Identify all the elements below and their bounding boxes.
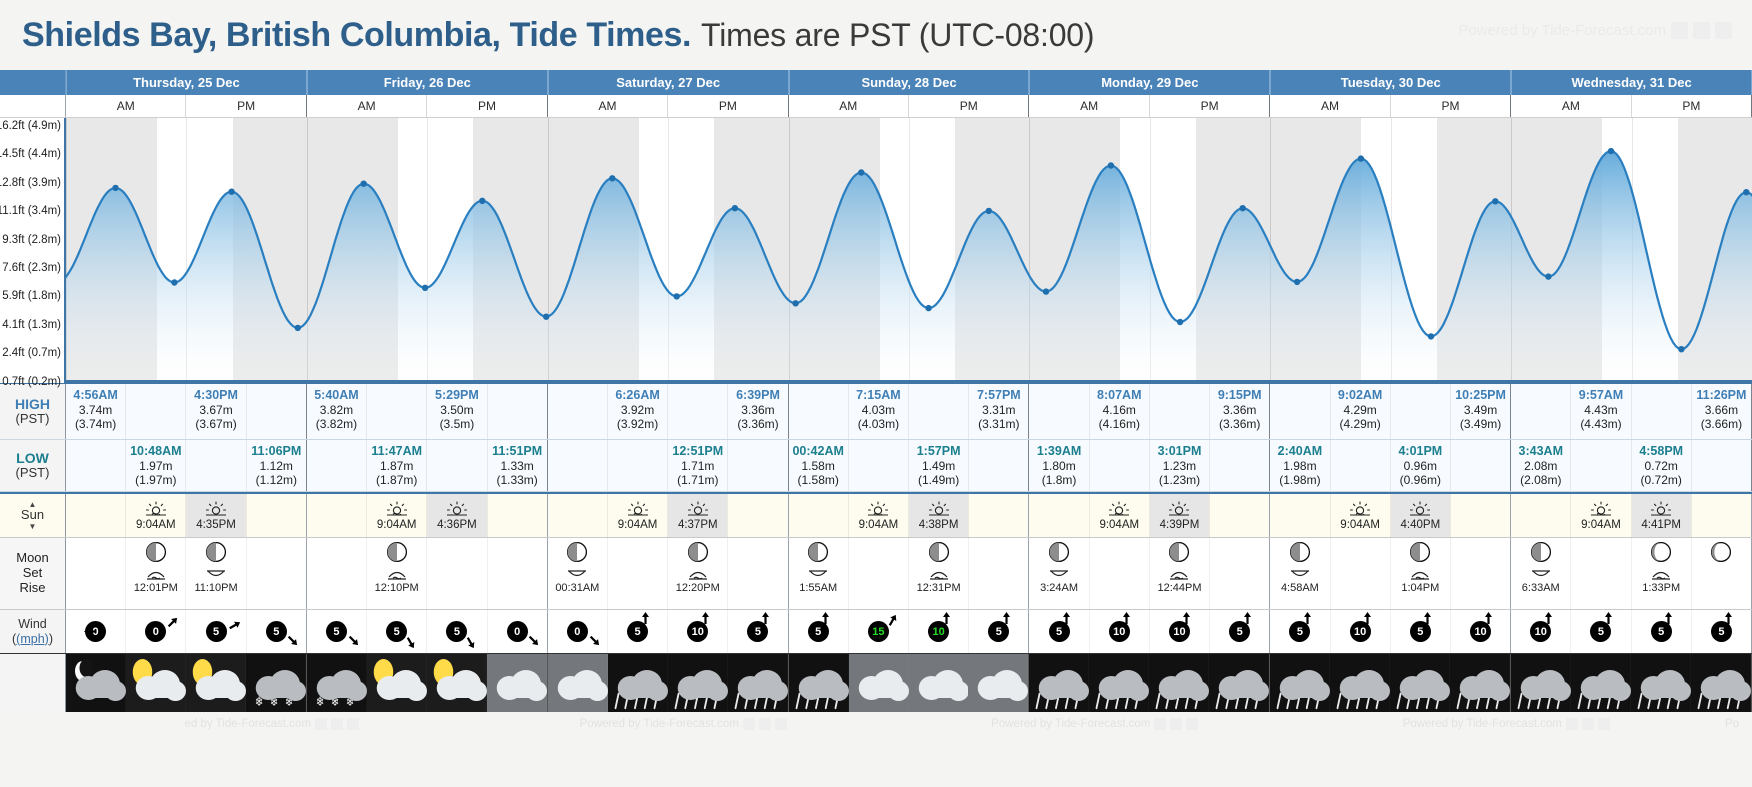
sun-cell-1-1: 9:04AM [367,494,427,537]
moonrise-icon [807,568,829,581]
weather-cell-0-2 [186,654,246,712]
high-tide-height-alt: (3.92m) [608,417,667,431]
wind-direction-arrow-icon [1420,611,1435,629]
wind-direction-arrow-icon [587,633,602,651]
low-tide-cell-5-2: 4:01PM0.96m(0.96m) [1391,440,1451,491]
low-tide-cell-5-1 [1331,440,1391,491]
moon-phase-icon [567,542,587,562]
high-tide-row: HIGH (PST) 4:56AM3.74m(3.74m)4:30PM3.67m… [0,383,1752,440]
sunrise-icon [386,501,408,517]
wind-cell-3-2: 10 [909,610,969,653]
moon-cell-4-3 [1210,538,1269,609]
low-tide-time: 11:47AM [367,444,426,459]
moon-phase-last-quarter-icon [387,542,407,562]
low-tide-cell-0-1: 10:48AM1.97m(1.97m) [126,440,186,491]
tide-extreme-point-5 [422,285,428,291]
moon-phase-last-quarter-icon [929,542,949,562]
weather-cell-5-0 [1270,654,1330,712]
footer-watermark-text: Po [1725,718,1739,730]
moon-cell-6-2: 1:33PM [1632,538,1692,609]
chart-plot-area [66,118,1752,383]
footer-watermark-2: Powered by Tide-Forecast.com [889,718,1301,730]
rain-night-icon [1390,654,1450,712]
wind-direction-arrow-icon [285,633,300,651]
weather-cell-2-1 [608,654,668,712]
wind-direction-arrow-icon [403,635,418,653]
moon-cell-4-2: 12:44PM [1150,538,1210,609]
day-header-row: Thursday, 25 DecFriday, 26 DecSaturday, … [0,70,1752,95]
high-tide-height-alt: (3.36m) [728,417,787,431]
wind-direction-arrow-icon [1541,611,1556,629]
sun-day-6: 9:04AM4:41PM [1511,494,1752,537]
moonrise-icon [1289,568,1311,581]
moon-cell-0-3 [247,538,306,609]
tide-extreme-point-25 [1678,346,1684,352]
page-subtitle: Times are PST (UTC-08:00) [701,17,1094,54]
sun-cell-6-0 [1511,494,1571,537]
rain-night-icon [1029,654,1089,712]
moon-phase-icon [146,542,166,562]
wind-row-label: Wind ((mph)) [0,610,66,653]
weather-day-4 [1029,654,1270,712]
chart-y-axis: 16.2ft (4.9m)14.5ft (4.4m)12.8ft (3.9m)1… [0,118,66,383]
high-tide-day-1: 5:40AM3.82m(3.82m)5:29PM3.50m(3.5m) [307,384,548,439]
high-tide-height-alt: (3.5m) [427,417,486,431]
wind-cell-4-1: 10 [1090,610,1150,653]
rain-night-icon [1691,654,1751,712]
wind-direction-arrow-icon [1300,611,1315,629]
day-header-1: Friday, 26 Dec [307,70,548,95]
partly-cloudy-day-icon [126,654,186,712]
moonrise-icon [1289,568,1311,582]
day-header-0: Thursday, 25 Dec [66,70,307,95]
moonrise-icon [566,568,588,581]
moonset-icon [1409,568,1431,582]
sun-time: 9:04AM [1099,519,1139,531]
weather-icon-row: ❄❄❄❄❄❄ [0,654,1752,712]
high-tide-height: 4.16m [1090,403,1149,417]
moon-phase-last-quarter-icon [206,542,226,562]
low-tide-cell-3-0: 00:42AM1.58m(1.58m) [789,440,849,491]
high-tide-cell-1-1 [367,384,427,439]
high-tide-label: HIGH (PST) [0,384,66,439]
sun-cell-6-3 [1692,494,1751,537]
moon-phase-icon [1531,542,1551,562]
high-tide-height: 3.50m [427,403,486,417]
wind-cell-1-1: 5 [367,610,427,653]
low-tide-cell-2-0 [548,440,608,491]
moon-time: 12:44PM [1157,582,1201,594]
ampm-cell-6-1: PM [1632,95,1751,117]
low-tide-cell-3-1 [849,440,909,491]
refresh-badge-icon [759,718,771,730]
ampm-day-3: AMPM [789,95,1030,117]
sun-cell-0-0 [66,494,126,537]
high-tide-height-alt: (3.82m) [307,417,366,431]
wave-badge-icon [1154,718,1166,730]
ampm-day-2: AMPM [548,95,789,117]
partly-cloudy-night-icon [66,654,126,712]
wind-direction-arrow-icon [346,633,361,651]
tide-extreme-point-17 [1177,319,1183,325]
sun-cell-2-2: 4:37PM [668,494,728,537]
low-tide-time: 3:01PM [1150,444,1209,459]
tide-extreme-point-22 [1492,198,1498,204]
weather-cell-4-2 [1149,654,1209,712]
moonset-icon [386,568,408,582]
low-tide-height: 0.72m [1632,459,1691,473]
low-tide-height-alt: (1.58m) [789,473,848,487]
high-tide-cell-0-1 [126,384,186,439]
wind-direction-arrow-icon [885,613,900,631]
cloudy-icon [487,654,547,712]
moon-cell-0-2: 11:10PM [186,538,246,609]
low-tide-time: 1:57PM [909,444,968,459]
sun-day-1: 9:04AM4:36PM [307,494,548,537]
y-axis-tick-9: 0.7ft (0.2m) [2,376,61,388]
sun-cell-1-0 [307,494,367,537]
weather-day-0: ❄❄❄ [66,654,307,712]
rain-night-icon [1571,654,1631,712]
y-axis-tick-3: 11.1ft (3.4m) [0,205,61,217]
wind-day-6: 10555 [1511,610,1752,653]
moon-cell-2-0: 00:31AM [548,538,608,609]
high-tide-height: 3.36m [728,403,787,417]
triangle-badge-icon [1598,718,1610,730]
wind-direction-arrow-icon [638,611,653,629]
footer-watermark-0: ed by Tide-Forecast.com [66,718,478,730]
moonrise-icon [1048,568,1070,581]
page-header: Shields Bay, British Columbia, Tide Time… [0,0,1752,70]
wind-speed-badge: 5 [326,621,347,642]
wind-speed-badge: 0 [567,621,588,642]
moon-cell-2-3 [728,538,787,609]
weather-day-5 [1270,654,1511,712]
high-tide-day-0: 4:56AM3.74m(3.74m)4:30PM3.67m(3.67m) [66,384,307,439]
sunrise-icon [145,501,167,517]
wind-cell-6-1: 5 [1571,610,1631,653]
low-tide-time: 11:51PM [488,444,547,459]
ampm-day-6: AMPM [1511,95,1752,117]
sunset-icon [446,501,468,517]
wind-cell-3-1: 15 [849,610,909,653]
high-tide-cell-5-2 [1391,384,1451,439]
snow-night-icon: ❄❄❄ [246,654,306,712]
sun-row-label-text: Sun [21,508,44,523]
wind-cell-2-2: 10 [668,610,728,653]
wind-speed-badge: 5 [446,621,467,642]
tide-extreme-point-4 [361,181,367,187]
low-tide-day-2: 12:51PM1.71m(1.71m) [548,440,789,491]
low-tide-day-4: 1:39AM1.80m(1.8m)3:01PM1.23m(1.23m) [1029,440,1270,491]
weather-cell-2-3 [728,654,788,712]
wind-day-5: 510510 [1270,610,1511,653]
low-tide-height-alt: (1.97m) [126,473,185,487]
sun-day-0: 9:04AM4:35PM [66,494,307,537]
high-tide-cell-5-0 [1270,384,1330,439]
tide-extreme-point-1 [171,279,177,285]
wave-badge-icon [1566,718,1578,730]
moon-phase-waning-crescent-icon [1651,542,1671,562]
moon-time: 1:33PM [1642,582,1680,594]
weather-cell-0-1 [126,654,186,712]
sun-cell-2-3 [728,494,787,537]
moon-cell-4-0: 3:24AM [1029,538,1089,609]
weather-cell-4-0 [1029,654,1089,712]
moon-phase-last-quarter-icon [808,542,828,562]
moon-day-1: 12:10PM [307,538,548,609]
sun-time: 9:04AM [859,519,899,531]
moon-phase-icon [206,542,226,562]
day-header-5: Tuesday, 30 Dec [1270,70,1511,95]
moon-time: 00:31AM [555,582,599,594]
low-tide-label: LOW (PST) [0,440,66,491]
weather-day-3 [789,654,1030,712]
sun-time: 4:39PM [1160,519,1200,531]
wind-cell-5-3: 10 [1451,610,1510,653]
ampm-cell-2-0: AM [548,95,668,117]
powered-by-text: Powered by Tide-Forecast.com [1458,22,1666,39]
sunset-icon [687,501,709,517]
sun-time: 4:38PM [919,519,959,531]
moon-phase-icon [808,542,828,562]
weather-cell-4-3 [1209,654,1269,712]
tide-extreme-point-15 [1043,288,1049,294]
moon-time: 1:04PM [1401,582,1439,594]
moon-row-label-text: Moon [16,551,49,566]
low-tide-time: 10:48AM [126,444,185,459]
high-tide-cell-0-2: 4:30PM3.67m(3.67m) [186,384,246,439]
high-tide-cell-1-0: 5:40AM3.82m(3.82m) [307,384,367,439]
wind-day-1: 5550 [307,610,548,653]
wind-cell-2-0: 0 [548,610,608,653]
high-tide-cell-6-2 [1632,384,1692,439]
moon-time: 3:24AM [1040,582,1078,594]
wind-speed-badge: 5 [988,621,1009,642]
partly-cloudy-day-icon [186,654,246,712]
wave-badge-icon [1671,22,1688,39]
tide-extreme-point-23 [1545,273,1551,279]
weather-day-1: ❄❄❄ [307,654,548,712]
low-tide-cell-0-0 [66,440,126,491]
day-header-4: Monday, 29 Dec [1029,70,1270,95]
moon-cell-4-1 [1090,538,1150,609]
high-tide-cell-6-0 [1511,384,1571,439]
wind-cell-4-2: 10 [1150,610,1210,653]
wind-row: Wind ((mph)) 005555500510551510551010551… [0,610,1752,654]
weather-cell-5-3 [1450,654,1510,712]
low-tide-label-text: LOW [16,450,49,466]
wind-direction-arrow-icon [1661,611,1676,629]
tide-extreme-point-18 [1240,205,1246,211]
wind-direction-arrow-icon [818,611,833,629]
wind-unit-text[interactable]: (mph) [16,632,49,646]
wind-cell-0-0: 0 [66,610,126,653]
tide-chart-page: Shields Bay, British Columbia, Tide Time… [0,0,1752,787]
moon-time: 12:31PM [917,582,961,594]
high-tide-cell-3-2 [909,384,969,439]
low-tide-cell-0-2 [186,440,246,491]
low-tide-height-alt: (1.8m) [1029,473,1088,487]
high-tide-height: 3.66m [1692,403,1751,417]
moon-time: 12:10PM [375,582,419,594]
footer-watermark-4: Po [1712,718,1752,730]
high-tide-time: 4:56AM [66,388,125,403]
rain-night-icon [668,654,728,712]
tide-extreme-point-26 [1743,189,1749,195]
high-tide-cell-6-1: 9:57AM4.43m(4.43m) [1571,384,1631,439]
high-tide-label-text: HIGH [15,396,50,412]
wave-badge-icon [743,718,755,730]
wind-speed-badge: 10 [687,621,708,642]
wind-speed-badge: 5 [747,621,768,642]
moon-phase-icon [387,542,407,562]
wind-speed-badge: 5 [627,621,648,642]
tide-area-fill [66,151,1752,383]
moon-cell-5-3 [1451,538,1510,609]
low-tide-time: 4:58PM [1632,444,1691,459]
sun-cell-2-0 [548,494,608,537]
wind-speed-badge: 5 [808,621,829,642]
sun-cell-6-1: 9:04AM [1571,494,1631,537]
tide-extreme-point-20 [1358,155,1364,161]
sun-cell-3-3 [969,494,1028,537]
sunset-icon [205,501,227,517]
moon-cell-1-0 [307,538,367,609]
wind-unit-link[interactable]: ((mph)) [12,632,53,646]
high-tide-cell-3-1: 7:15AM4.03m(4.03m) [849,384,909,439]
low-tide-cell-4-0: 1:39AM1.80m(1.8m) [1029,440,1089,491]
tide-extreme-point-24 [1608,148,1614,154]
low-tide-cell-3-3 [969,440,1028,491]
low-tide-height: 1.71m [668,459,727,473]
weather-cell-5-2 [1390,654,1450,712]
low-tide-cell-5-3 [1451,440,1510,491]
high-tide-height: 3.49m [1451,403,1510,417]
wind-speed-badge: 0 [145,621,166,642]
sun-row-label: ▲ Sun ▼ [0,494,66,537]
wind-speed-badge: 5 [1651,621,1672,642]
moon-phase-waning-crescent-icon [1711,542,1731,562]
sunrise-icon [627,501,649,517]
moon-time: 4:58AM [1281,582,1319,594]
rain-night-icon [1450,654,1510,712]
low-tide-cell-1-1: 11:47AM1.87m(1.87m) [367,440,427,491]
low-tide-day-5: 2:40AM1.98m(1.98m)4:01PM0.96m(0.96m) [1270,440,1511,491]
moonset-icon [1650,568,1672,581]
wind-cell-1-3: 0 [488,610,547,653]
tide-extreme-point-16 [1108,162,1114,168]
day-header-2: Saturday, 27 Dec [548,70,789,95]
high-tide-height: 4.03m [849,403,908,417]
ampm-cell-1-0: AM [307,95,427,117]
moon-cell-3-2: 12:31PM [909,538,969,609]
ampm-cell-4-1: PM [1150,95,1269,117]
high-tide-height-alt: (3.66m) [1692,417,1751,431]
high-tide-height-alt: (4.29m) [1331,417,1390,431]
refresh-badge-icon [1582,718,1594,730]
weather-cell-6-0 [1511,654,1571,712]
low-tide-height: 1.58m [789,459,848,473]
sun-cell-1-3 [488,494,547,537]
low-tide-cell-4-1 [1090,440,1150,491]
high-tide-height: 4.29m [1331,403,1390,417]
footer-watermark-text: Powered by Tide-Forecast.com [580,718,739,730]
tide-extreme-point-13 [925,305,931,311]
high-tide-cell-4-0 [1029,384,1089,439]
high-tide-cell-2-0 [548,384,608,439]
sun-time: 4:35PM [196,519,236,531]
low-tide-cell-6-2: 4:58PM0.72m(0.72m) [1632,440,1692,491]
cloudy-icon [968,654,1028,712]
wind-cell-6-2: 5 [1632,610,1692,653]
high-tide-day-4: 8:07AM4.16m(4.16m)9:15PM3.36m(3.36m) [1029,384,1270,439]
wind-speed-badge: 5 [386,621,407,642]
weather-cell-6-1 [1571,654,1631,712]
sunset-icon [1409,501,1431,519]
low-tide-time: 00:42AM [789,444,848,459]
high-tide-day-2: 6:26AM3.92m(3.92m)6:39PM3.36m(3.36m) [548,384,789,439]
wind-speed-badge: 5 [266,621,287,642]
wind-direction-arrow-icon [526,633,541,651]
sun-day-2: 9:04AM4:37PM [548,494,789,537]
high-tide-label-tz: (PST) [16,412,50,427]
low-tide-height-alt: (2.08m) [1511,473,1570,487]
low-tide-height-alt: (1.12m) [247,473,306,487]
moonset-icon [928,568,950,581]
high-tide-height: 3.92m [608,403,667,417]
high-tide-time: 11:26PM [1692,388,1751,403]
high-tide-cell-4-3: 9:15PM3.36m(3.36m) [1210,384,1269,439]
low-tide-height-alt: (1.71m) [668,473,727,487]
rain-night-icon [1149,654,1209,712]
low-tide-time: 1:39AM [1029,444,1088,459]
wind-direction-arrow-icon [758,611,773,629]
sun-cell-0-1: 9:04AM [126,494,186,537]
sun-time: 4:40PM [1401,519,1441,531]
sun-time: 9:04AM [618,519,658,531]
tide-extreme-point-10 [732,205,738,211]
moon-day-6: 6:33AM1:33PM [1511,538,1752,609]
ampm-day-0: AMPM [66,95,307,117]
moon-time: 12:01PM [134,582,178,594]
wind-direction-arrow-icon [1601,611,1616,629]
y-axis-tick-5: 7.6ft (2.3m) [2,262,61,274]
wind-speed-badge: 10 [928,621,949,642]
low-tide-cell-2-3 [728,440,787,491]
low-tide-day-0: 10:48AM1.97m(1.97m)11:06PM1.12m(1.12m) [66,440,307,491]
moon-time: 1:55AM [799,582,837,594]
low-tide-cell-5-0: 2:40AM1.98m(1.98m) [1270,440,1330,491]
rain-night-icon [789,654,849,712]
weather-cell-3-1 [849,654,909,712]
tide-extreme-point-0 [112,185,118,191]
moon-cell-6-1 [1571,538,1631,609]
rain-night-icon [1089,654,1149,712]
footer-watermark-text: Powered by Tide-Forecast.com [991,718,1150,730]
sun-time: 4:36PM [437,519,477,531]
ampm-cell-6-0: AM [1511,95,1631,117]
high-tide-height-alt: (4.16m) [1090,417,1149,431]
low-tide-height-alt: (0.96m) [1391,473,1450,487]
ampm-cell-4-0: AM [1029,95,1149,117]
day-header-spacer [0,70,66,95]
high-tide-time: 6:39PM [728,388,787,403]
high-tide-cell-0-3 [247,384,306,439]
weather-cell-6-2 [1631,654,1691,712]
moon-cell-5-2: 1:04PM [1391,538,1451,609]
y-axis-tick-4: 9.3ft (2.8m) [2,234,61,246]
